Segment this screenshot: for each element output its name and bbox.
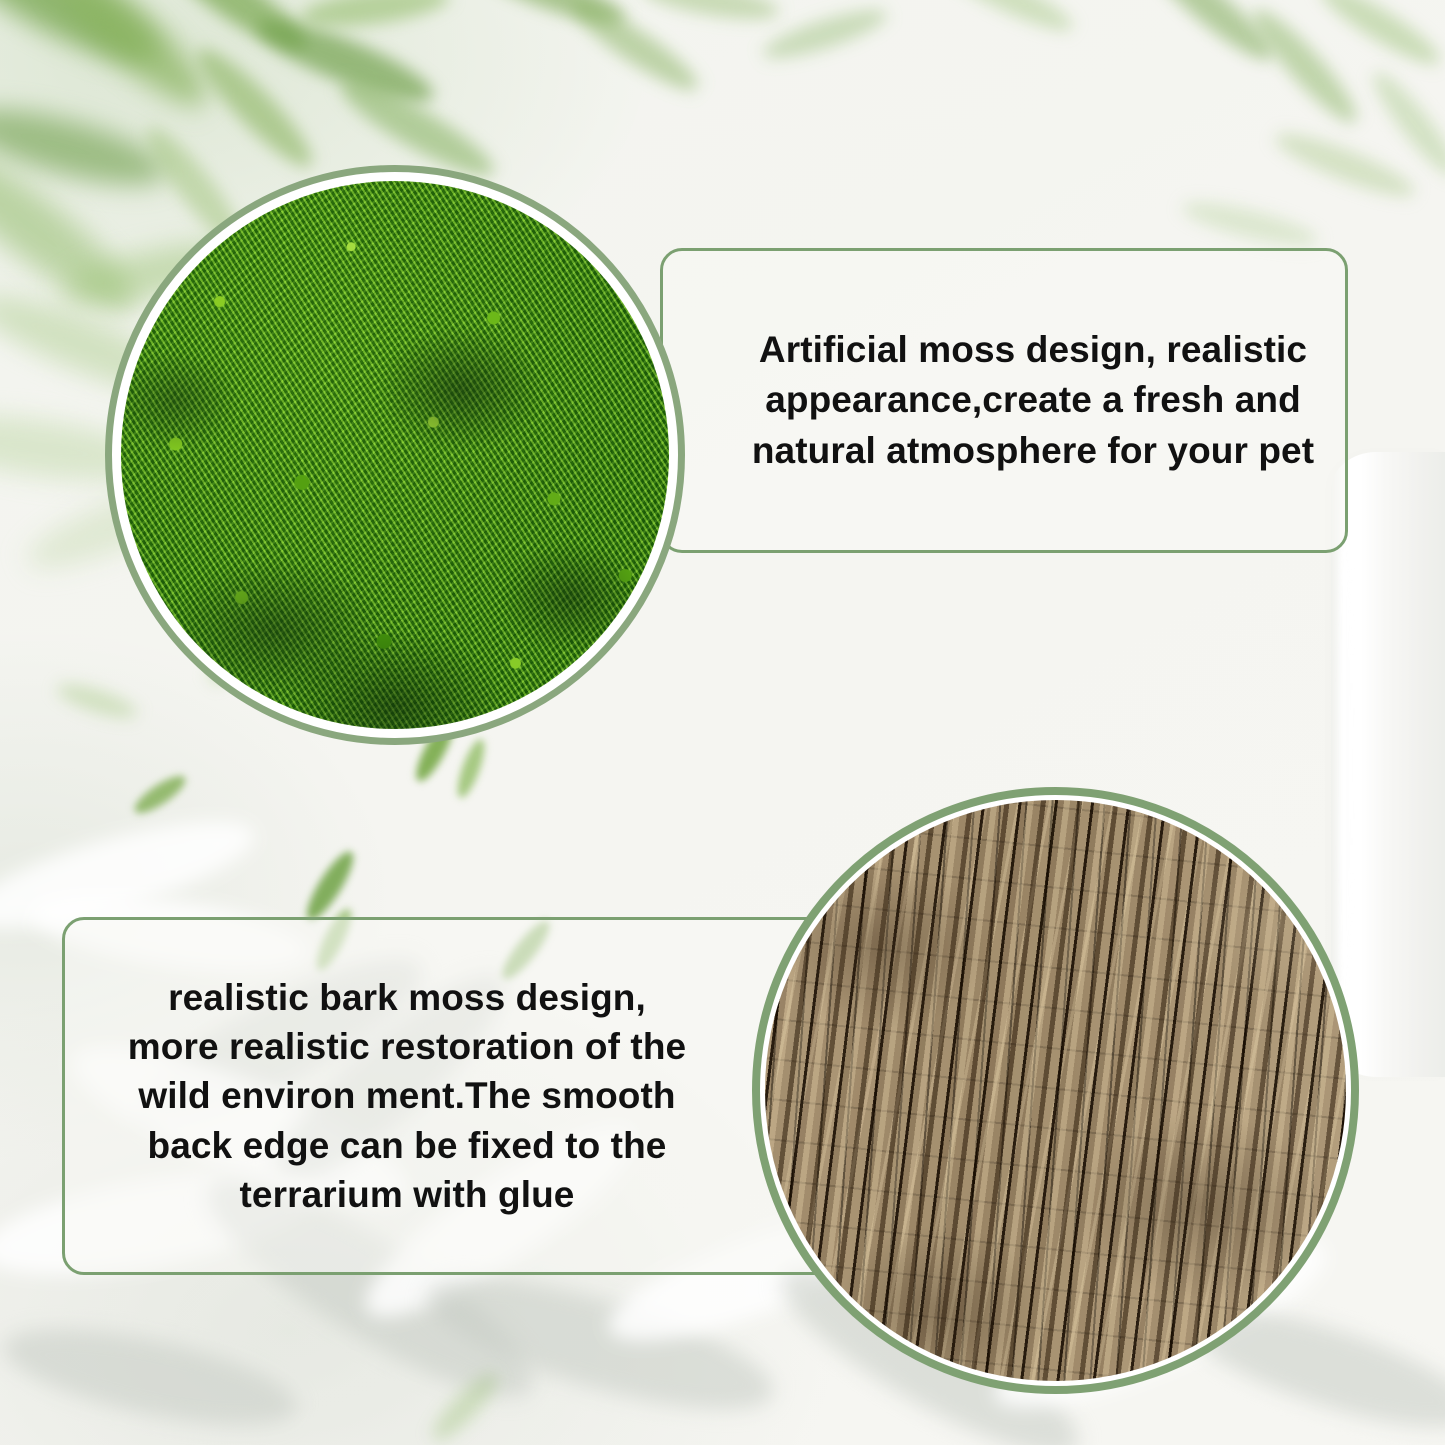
bark-photo [765,800,1346,1381]
moss-shading [121,181,669,729]
infographic-canvas: Artificial moss design, realistic appear… [0,0,1445,1445]
moss-image-circle [105,165,685,745]
moss-photo [121,181,669,729]
callout-moss-line-1: Artificial moss design, realistic [742,325,1324,375]
callout-bark-line-2: more realistic restoration of the [65,1022,749,1071]
callout-bark-text: realistic bark moss design, more realist… [65,973,749,1219]
callout-bark-line-5: terrarium with glue [65,1170,749,1219]
callout-bark-line-4: back edge can be fixed to the [65,1121,749,1170]
bark-shading [765,800,1346,1381]
callout-moss-text: Artificial moss design, realistic appear… [684,325,1324,476]
callout-bark-line-3: wild environ ment.The smooth [65,1071,749,1120]
callout-box-moss: Artificial moss design, realistic appear… [660,248,1348,553]
callout-bark-line-1: realistic bark moss design, [65,973,749,1022]
callout-moss-line-2: appearance,create a fresh and [742,375,1324,425]
bark-image-circle [752,787,1359,1394]
callout-moss-line-3: natural atmosphere for your pet [742,426,1324,476]
